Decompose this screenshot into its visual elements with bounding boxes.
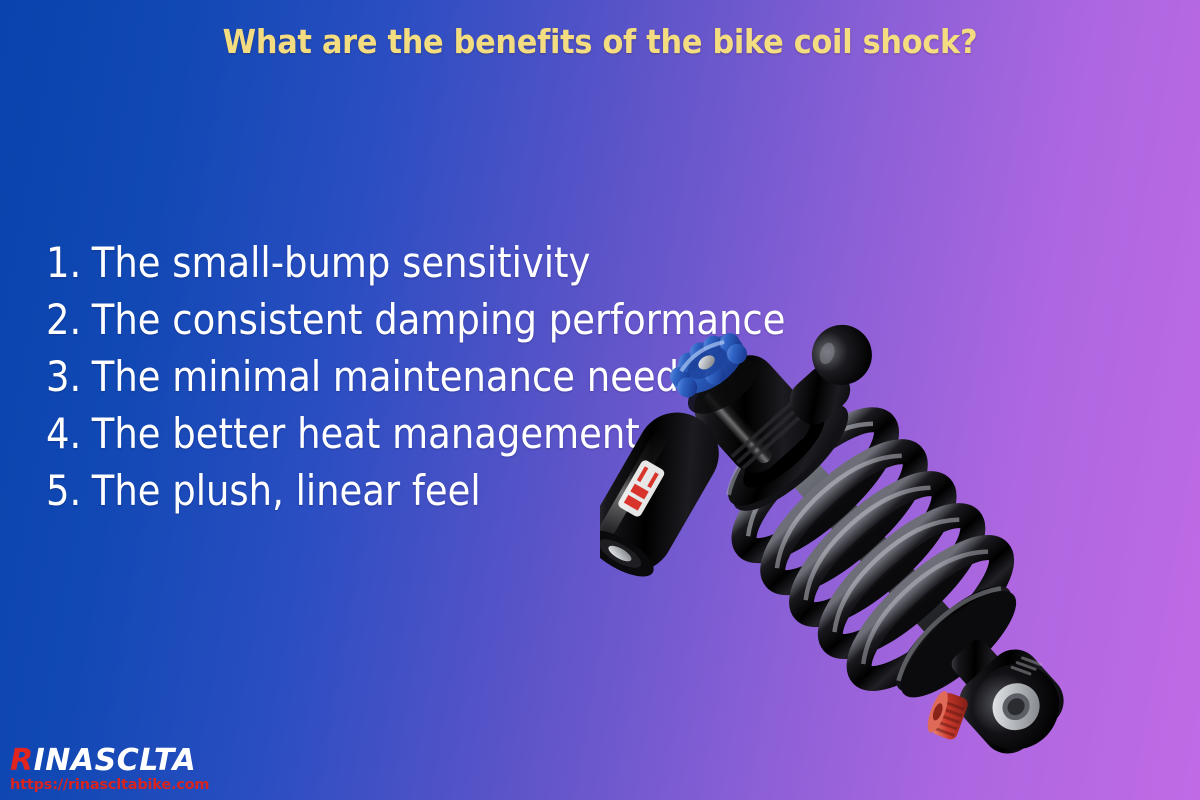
list-item-label: The small-bump sensitivity bbox=[92, 238, 591, 287]
lower-spring-seat bbox=[881, 570, 1030, 713]
list-item-number: 2. bbox=[46, 295, 92, 344]
list-item-number: 1. bbox=[46, 238, 92, 287]
list-item: 5. The plush, linear feel bbox=[46, 466, 785, 523]
logo-wordmark: RINASCLTA bbox=[10, 746, 250, 776]
list-item: 4. The better heat management bbox=[46, 409, 785, 466]
brand-logo: RINASCLTA https://rinascltabike.com bbox=[10, 746, 250, 793]
list-item-number: 4. bbox=[46, 409, 92, 458]
logo-url[interactable]: https://rinascltabike.com bbox=[10, 778, 250, 793]
lower-mount-eyelet bbox=[948, 637, 1080, 768]
promo-graphic: What are the benefits of the bike coil s… bbox=[0, 0, 1200, 800]
list-item-label: The consistent damping performance bbox=[92, 295, 786, 344]
logo-initial: R bbox=[10, 743, 34, 778]
logo-name: INASCLTA bbox=[34, 743, 197, 778]
list-item-label: The better heat management bbox=[92, 409, 640, 458]
list-item: 3. The minimal maintenance needs bbox=[46, 352, 785, 409]
list-item-number: 5. bbox=[46, 466, 92, 515]
list-item-number: 3. bbox=[46, 352, 92, 401]
benefits-list: 1. The small-bump sensitivity 2. The con… bbox=[46, 238, 886, 523]
page-title: What are the benefits of the bike coil s… bbox=[48, 22, 1152, 61]
list-item: 1. The small-bump sensitivity bbox=[46, 238, 785, 295]
red-rebound-knob[interactable] bbox=[924, 689, 970, 742]
list-item: 2. The consistent damping performance bbox=[46, 295, 785, 352]
list-item-label: The plush, linear feel bbox=[92, 466, 481, 515]
list-item-label: The minimal maintenance needs bbox=[92, 352, 699, 401]
lower-shaft bbox=[948, 635, 1009, 696]
